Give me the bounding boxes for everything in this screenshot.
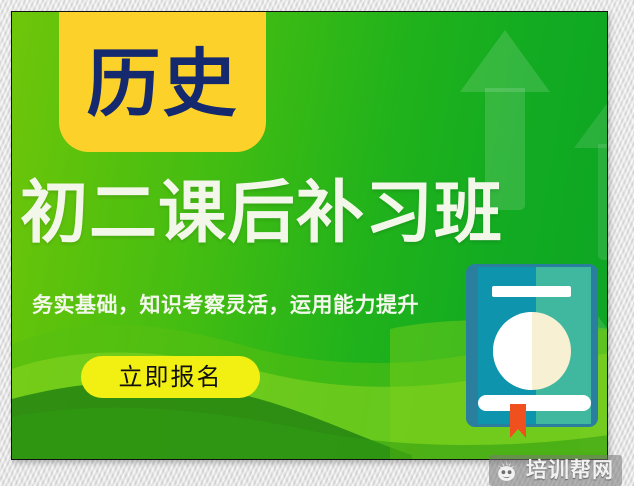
subtitle-text: 务实基础，知识考察灵活，运用能力提升	[32, 293, 419, 318]
page-surface: 历史 初二课后补习班 务实基础，知识考察灵活，运用能力提升 立即报名	[0, 0, 634, 486]
watermark-label: 培训帮网	[526, 460, 614, 481]
subject-badge: 历史	[59, 11, 266, 152]
watermark: 培训帮网	[489, 455, 622, 486]
subject-badge-label: 历史	[87, 37, 239, 121]
enroll-now-button[interactable]: 立即报名	[81, 356, 260, 398]
headline-title: 初二课后补习班	[20, 180, 600, 248]
book-icon	[466, 264, 598, 439]
enroll-now-button-label: 立即报名	[119, 365, 223, 389]
promo-banner: 历史 初二课后补习班 务实基础，知识考察灵活，运用能力提升 立即报名	[11, 11, 608, 460]
smiley-face-icon	[495, 460, 519, 482]
